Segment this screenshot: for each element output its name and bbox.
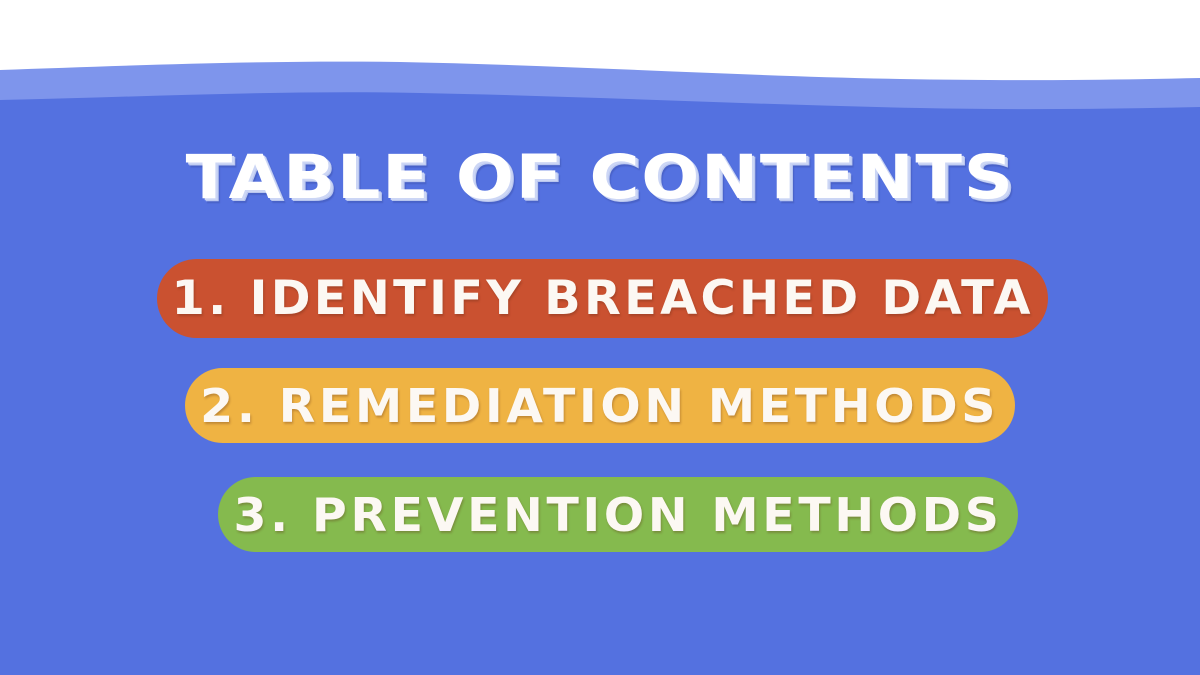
toc-item-3-label: 3. PREVENTION METHODS — [233, 494, 1002, 536]
toc-item-2-label: 2. REMEDIATION METHODS — [201, 385, 1000, 427]
slide-canvas: TABLE OF CONTENTS 1. IDENTIFY BREACHED D… — [0, 0, 1200, 675]
toc-item-1-label: 1. IDENTIFY BREACHED DATA — [171, 278, 1033, 320]
toc-item-1[interactable]: 1. IDENTIFY BREACHED DATA — [157, 259, 1048, 338]
toc-item-3[interactable]: 3. PREVENTION METHODS — [218, 477, 1018, 552]
toc-item-2[interactable]: 2. REMEDIATION METHODS — [185, 368, 1015, 443]
table-of-contents-list: 1. IDENTIFY BREACHED DATA 2. REMEDIATION… — [0, 0, 1200, 675]
